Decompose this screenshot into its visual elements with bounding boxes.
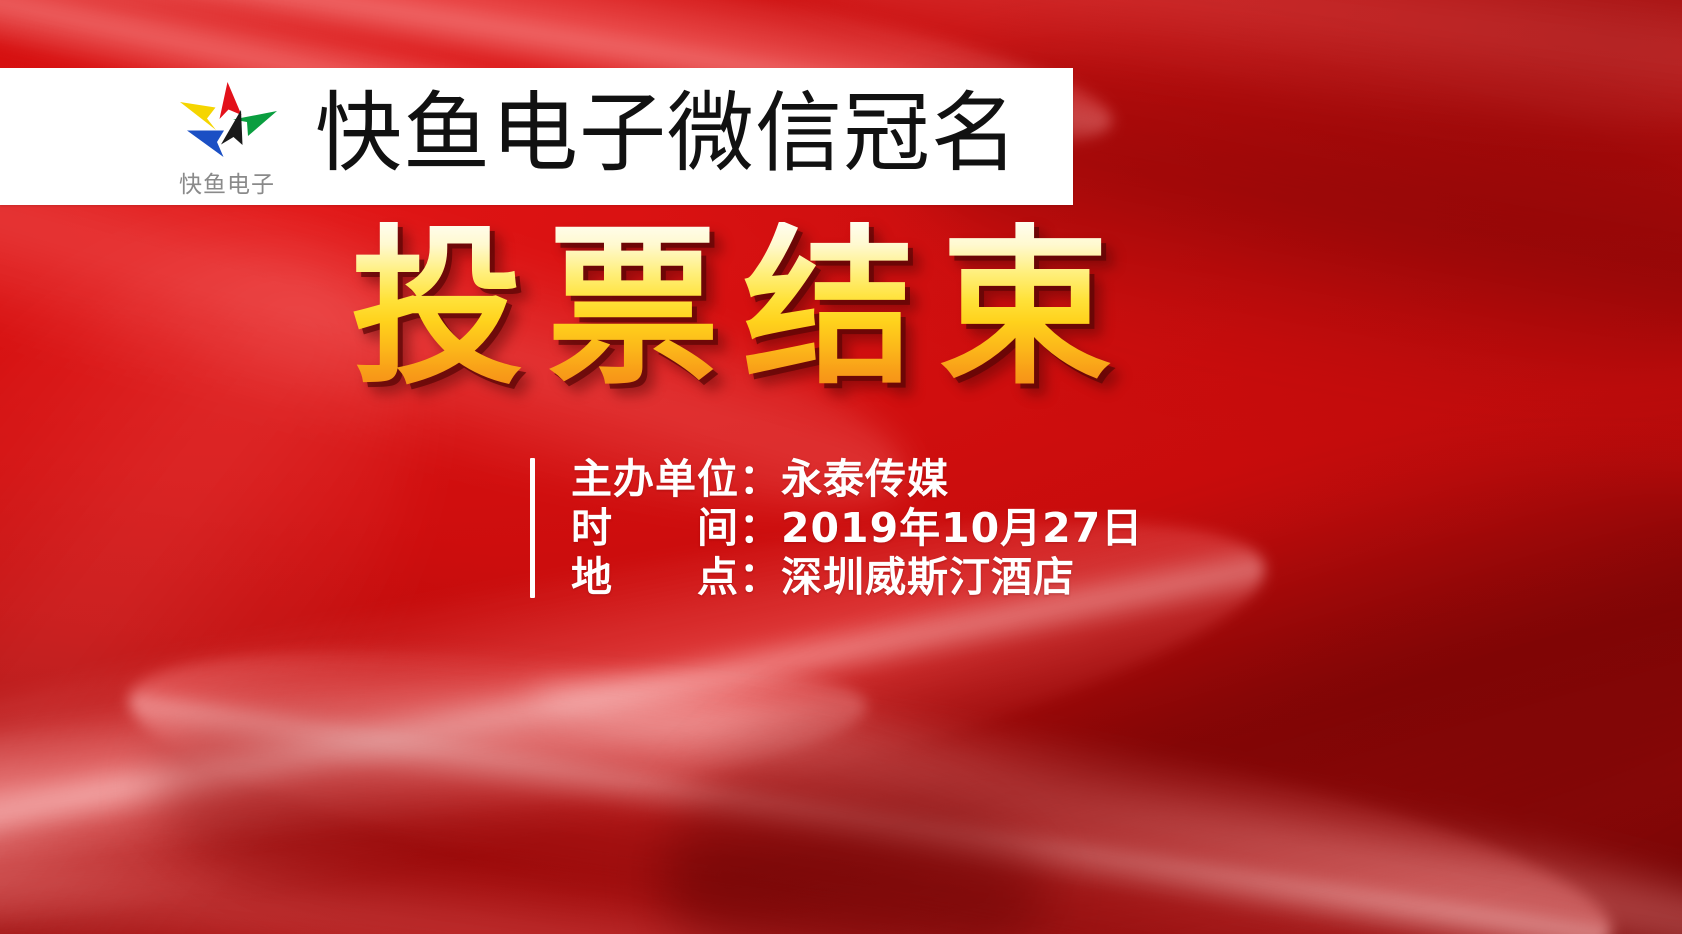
event-info-block: 主办单位：永泰传媒 时 间：2019年10月27日 地 点：深圳威斯汀酒店	[530, 455, 1143, 602]
sponsor-title: 快鱼电子微信冠名	[315, 90, 1019, 177]
info-line-list: 主办单位：永泰传媒 时 间：2019年10月27日 地 点：深圳威斯汀酒店	[535, 455, 1143, 602]
pinwheel-star-icon	[157, 74, 297, 174]
company-logo: 快鱼电子	[157, 74, 297, 199]
info-line-organizer: 主办单位：永泰传媒	[571, 455, 1143, 504]
info-line-time: 时 间：2019年10月27日	[571, 504, 1143, 553]
sponsor-banner: 快鱼电子 快鱼电子微信冠名	[0, 68, 1073, 205]
poster-stage: 快鱼电子 快鱼电子微信冠名 投票结束 主办单位：永泰传媒 时 间：2019年10…	[0, 0, 1682, 934]
info-line-venue: 地 点：深圳威斯汀酒店	[571, 553, 1143, 602]
logo-wordmark: 快鱼电子	[157, 174, 297, 197]
